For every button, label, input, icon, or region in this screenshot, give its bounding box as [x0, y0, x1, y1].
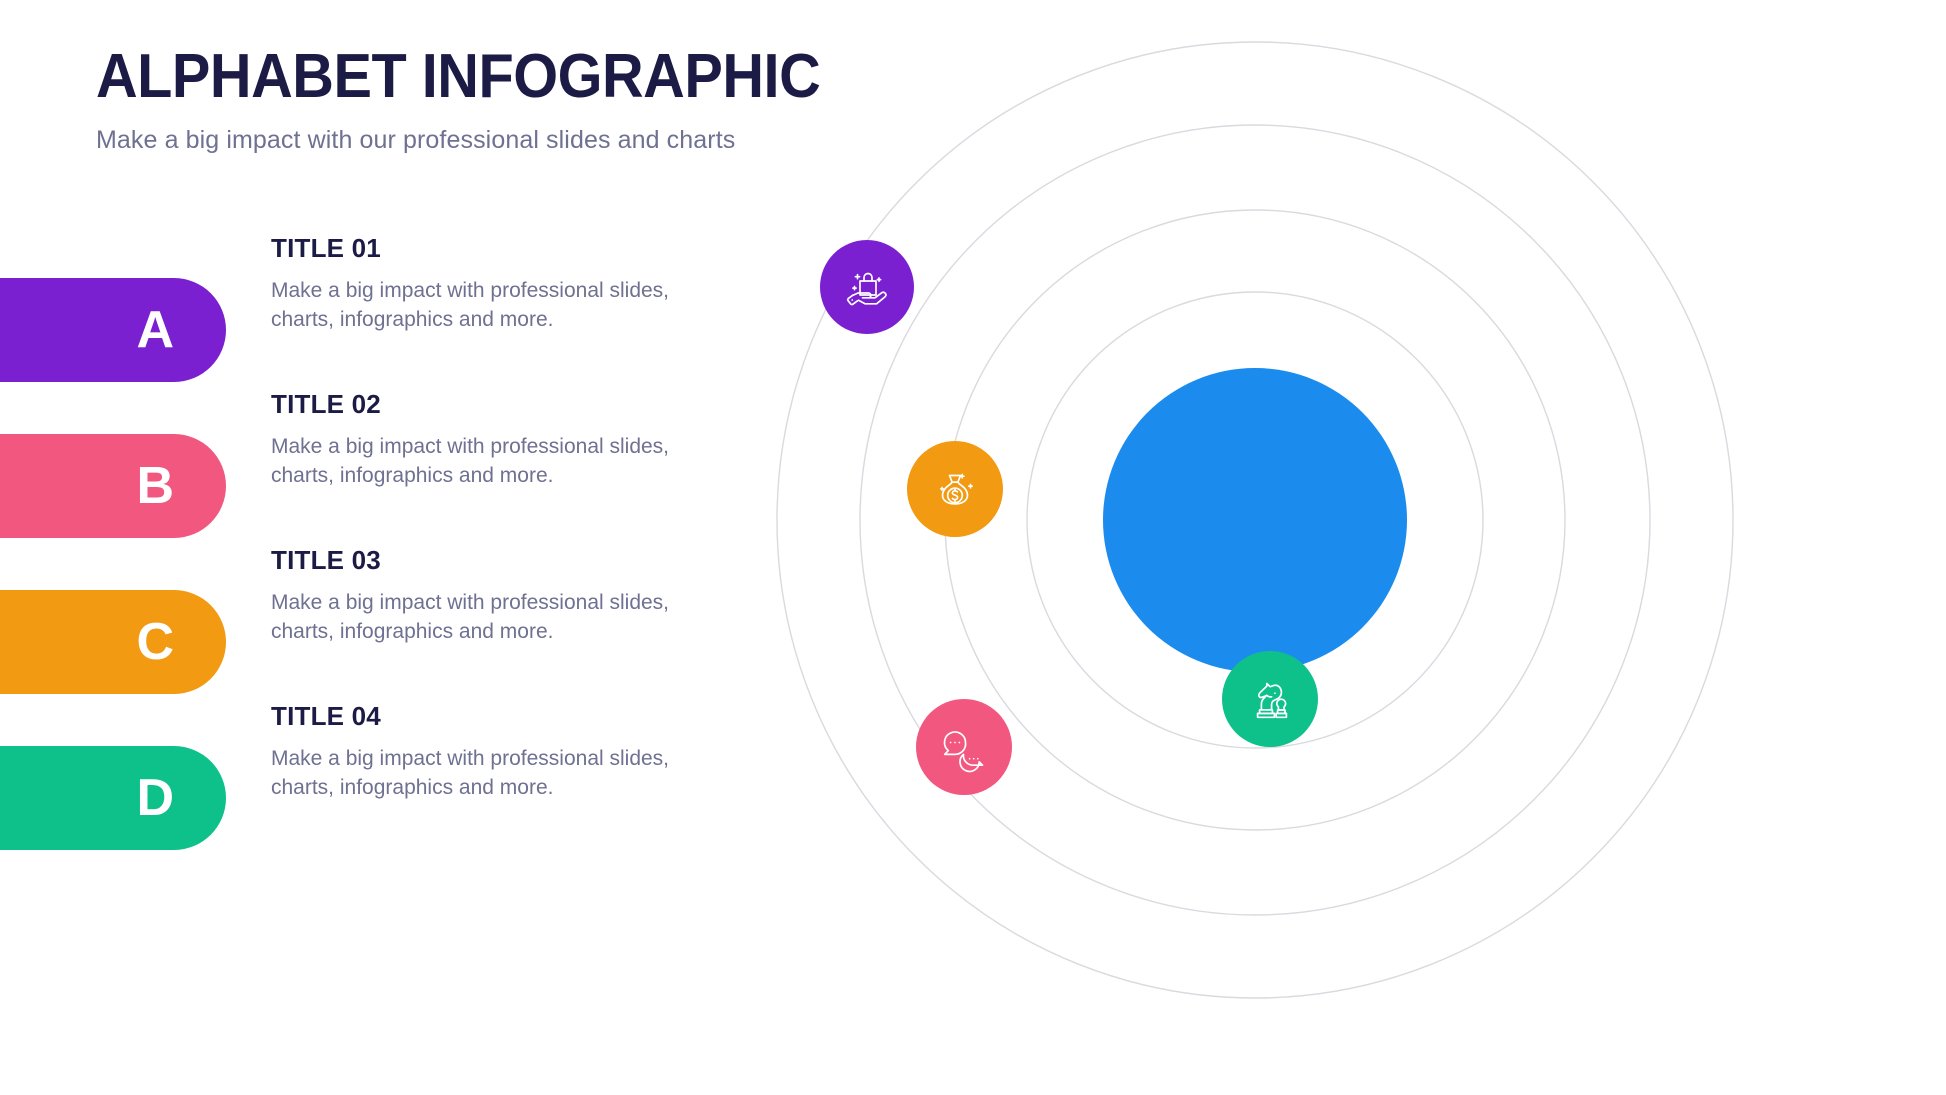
- infographic-slide: ALPHABET INFOGRAPHIC Make a big impact w…: [0, 0, 1946, 1095]
- item-description: Make a big impact with professional slid…: [271, 588, 671, 648]
- shopping-bag-hand-icon: [841, 261, 893, 313]
- list-item[interactable]: C TITLE 03 Make a big impact with profes…: [0, 540, 720, 696]
- money-bag-icon: [928, 462, 982, 516]
- header: ALPHABET INFOGRAPHIC Make a big impact w…: [96, 46, 875, 155]
- item-title: TITLE 02: [271, 390, 701, 419]
- letter-pill-b[interactable]: B: [0, 434, 226, 538]
- list-item[interactable]: B TITLE 02 Make a big impact with profes…: [0, 384, 720, 540]
- pill-letter: C: [136, 616, 174, 668]
- letter-pill-d[interactable]: D: [0, 746, 226, 850]
- center-blue-circle: [1103, 368, 1407, 672]
- alphabet-item-list: A TITLE 01 Make a big impact with profes…: [0, 228, 720, 852]
- concentric-ring-diagram: [770, 0, 1946, 1095]
- chess-knight-icon: [1243, 672, 1297, 726]
- list-item[interactable]: D TITLE 04 Make a big impact with profes…: [0, 696, 720, 852]
- pill-letter: A: [136, 304, 174, 356]
- item-description: Make a big impact with professional slid…: [271, 744, 671, 804]
- item-text-block: TITLE 03 Make a big impact with professi…: [271, 546, 701, 647]
- item-text-block: TITLE 02 Make a big impact with professi…: [271, 390, 701, 491]
- page-title: ALPHABET INFOGRAPHIC: [96, 46, 820, 108]
- item-title: TITLE 03: [271, 546, 701, 575]
- pill-letter: D: [136, 772, 174, 824]
- item-title: TITLE 04: [271, 702, 701, 731]
- item-description: Make a big impact with professional slid…: [271, 276, 671, 336]
- list-item[interactable]: A TITLE 01 Make a big impact with profes…: [0, 228, 720, 384]
- badge-money-bag[interactable]: [907, 441, 1003, 537]
- chat-bubbles-icon: [936, 721, 992, 773]
- item-description: Make a big impact with professional slid…: [271, 432, 671, 492]
- letter-pill-a[interactable]: A: [0, 278, 226, 382]
- badge-shopping-bag[interactable]: [820, 240, 914, 334]
- letter-pill-c[interactable]: C: [0, 590, 226, 694]
- item-text-block: TITLE 04 Make a big impact with professi…: [271, 702, 701, 803]
- item-title: TITLE 01: [271, 234, 701, 263]
- item-text-block: TITLE 01 Make a big impact with professi…: [271, 234, 701, 335]
- badge-chat-bubbles[interactable]: [916, 699, 1012, 795]
- ring-svg: [770, 0, 1946, 1095]
- pill-letter: B: [136, 460, 174, 512]
- badge-chess-knight[interactable]: [1222, 651, 1318, 747]
- page-subtitle: Make a big impact with our professional …: [96, 126, 875, 155]
